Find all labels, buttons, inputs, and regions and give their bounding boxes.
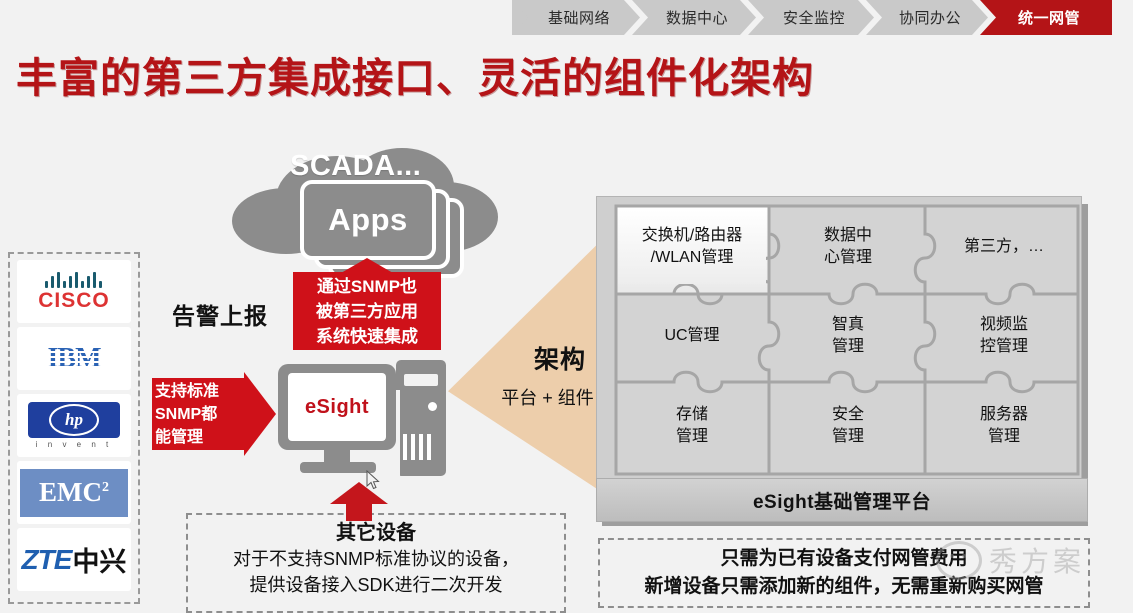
snmp-arrow-line-0: 支持标准: [155, 380, 245, 403]
vendor-logo-panel: CISCO IBM hp i n v e n t EMC2 ZTE 中兴: [8, 252, 140, 604]
apps-card-front: Apps: [300, 180, 436, 260]
page-title: 丰富的第三方集成接口、灵活的组件化架构: [16, 44, 814, 104]
other-devices-title: 其它设备: [188, 520, 564, 546]
breadcrumb-label: 基础网络: [548, 7, 610, 28]
component-cell-3[interactable]: UC管理: [618, 300, 766, 372]
component-cell-6[interactable]: 存储管理: [618, 388, 766, 464]
component-cell-8[interactable]: 服务器管理: [930, 388, 1078, 464]
breadcrumb-label: 统一网管: [1018, 7, 1080, 28]
snmp-arrow-line-1: SNMP都: [155, 403, 245, 426]
snmp-callout-line-1: 被第三方应用: [293, 299, 441, 324]
breadcrumb-label: 数据中心: [666, 7, 728, 28]
emc-logo: EMC2: [17, 461, 131, 524]
ibm-logo-text: IBM: [48, 343, 101, 375]
architecture-board: 交换机/路由器/WLAN管理 数据中心管理 第三方，… UC管理 智真管理 视频…: [596, 196, 1088, 526]
cisco-logo-text: CISCO: [38, 290, 110, 311]
esight-computer: eSight: [278, 360, 446, 490]
breadcrumb: 基础网络 数据中心 安全监控 协同办公 统一网管: [512, 0, 1133, 35]
callout-tip: [341, 258, 393, 273]
cloud-label: SCADA...: [290, 150, 421, 183]
other-devices-box: 其它设备 对于不支持SNMP标准协议的设备， 提供设备接入SDK进行二次开发: [186, 513, 566, 613]
value-proposition-box: 只需为已有设备支付网管费用 新增设备只需添加新的组件，无需重新购买网管: [598, 538, 1090, 608]
platform-base-label: eSight基础管理平台: [753, 487, 931, 514]
component-cell-2[interactable]: 第三方，…: [930, 210, 1078, 284]
alarm-report-label: 告警上报: [172, 297, 268, 331]
component-cell-4[interactable]: 智真管理: [774, 300, 922, 372]
platform-base-bar: eSight基础管理平台: [596, 478, 1088, 522]
emc-logo-text: EMC: [39, 477, 102, 507]
component-label: 智真管理: [832, 314, 864, 358]
component-cell-1[interactable]: 数据中心管理: [774, 210, 922, 284]
zte-logo-text-cn: 中兴: [72, 540, 126, 579]
component-label: 第三方，…: [964, 236, 1044, 258]
tower-drive-slot: [404, 374, 438, 386]
breadcrumb-item-1[interactable]: 数据中心: [632, 0, 756, 35]
value-line-0: 只需为已有设备支付网管费用: [720, 545, 967, 573]
snmp-arrow-line-2: 能管理: [155, 426, 245, 449]
hp-logo-mark: hp: [28, 402, 120, 438]
up-arrow-stem: [346, 503, 372, 521]
component-label: 数据中心管理: [824, 225, 872, 269]
cisco-logo: CISCO: [17, 260, 131, 323]
hp-logo-text: hp: [65, 410, 83, 430]
breadcrumb-label: 安全监控: [783, 7, 845, 28]
component-label: 交换机/路由器/WLAN管理: [642, 225, 742, 269]
component-label: UC管理: [664, 325, 719, 347]
hp-invent-text: i n v e n t: [36, 440, 112, 449]
ibm-logo: IBM: [17, 327, 131, 390]
breadcrumb-item-4-active[interactable]: 统一网管: [980, 0, 1112, 35]
esight-screen-label: eSight: [305, 396, 369, 419]
component-label: 存储管理: [676, 404, 708, 448]
slide-canvas: 基础网络 数据中心 安全监控 协同办公 统一网管 丰富的第三方集成接口、灵活的组…: [0, 0, 1133, 613]
monitor-icon: eSight: [278, 364, 396, 450]
arrow-head-icon: [244, 372, 276, 456]
apps-label: Apps: [328, 202, 408, 238]
snmp-callout-line-0: 通过SNMP也: [293, 274, 441, 299]
component-label: 安全管理: [832, 404, 864, 448]
zte-logo: ZTE 中兴: [17, 528, 131, 591]
snmp-integration-callout: 通过SNMP也 被第三方应用 系统快速集成: [293, 272, 441, 350]
monitor-base: [300, 462, 376, 473]
snmp-callout-line-2: 系统快速集成: [293, 324, 441, 349]
other-devices-line-1: 提供设备接入SDK进行二次开发: [188, 572, 564, 598]
component-cell-5[interactable]: 视频监控管理: [930, 300, 1078, 372]
zte-logo-text-latin: ZTE: [22, 544, 72, 576]
component-cell-0[interactable]: 交换机/路由器/WLAN管理: [618, 210, 766, 284]
component-label: 服务器管理: [980, 404, 1028, 448]
tower-power-dot: [428, 402, 437, 411]
breadcrumb-label: 协同办公: [899, 7, 961, 28]
monitor-screen: eSight: [288, 373, 386, 441]
architecture-subtitle: 平台 + 组件: [480, 384, 615, 410]
other-devices-line-0: 对于不支持SNMP标准协议的设备，: [188, 546, 564, 572]
pc-tower-icon: [396, 360, 446, 476]
component-cell-7[interactable]: 安全管理: [774, 388, 922, 464]
snmp-support-arrow: 支持标准 SNMP都 能管理: [152, 372, 280, 456]
hp-logo: hp i n v e n t: [17, 394, 131, 457]
breadcrumb-item-2[interactable]: 安全监控: [748, 0, 874, 35]
mouse-cursor: [366, 470, 380, 490]
tower-vents: [403, 434, 439, 460]
tower-divider: [396, 390, 400, 476]
cisco-bars-icon: [45, 272, 102, 288]
breadcrumb-item-3[interactable]: 协同办公: [866, 0, 988, 35]
emc-logo-sup: 2: [102, 480, 109, 495]
value-line-1: 新增设备只需添加新的组件，无需重新购买网管: [644, 573, 1043, 601]
breadcrumb-item-0[interactable]: 基础网络: [512, 0, 640, 35]
component-label: 视频监控管理: [980, 314, 1028, 358]
